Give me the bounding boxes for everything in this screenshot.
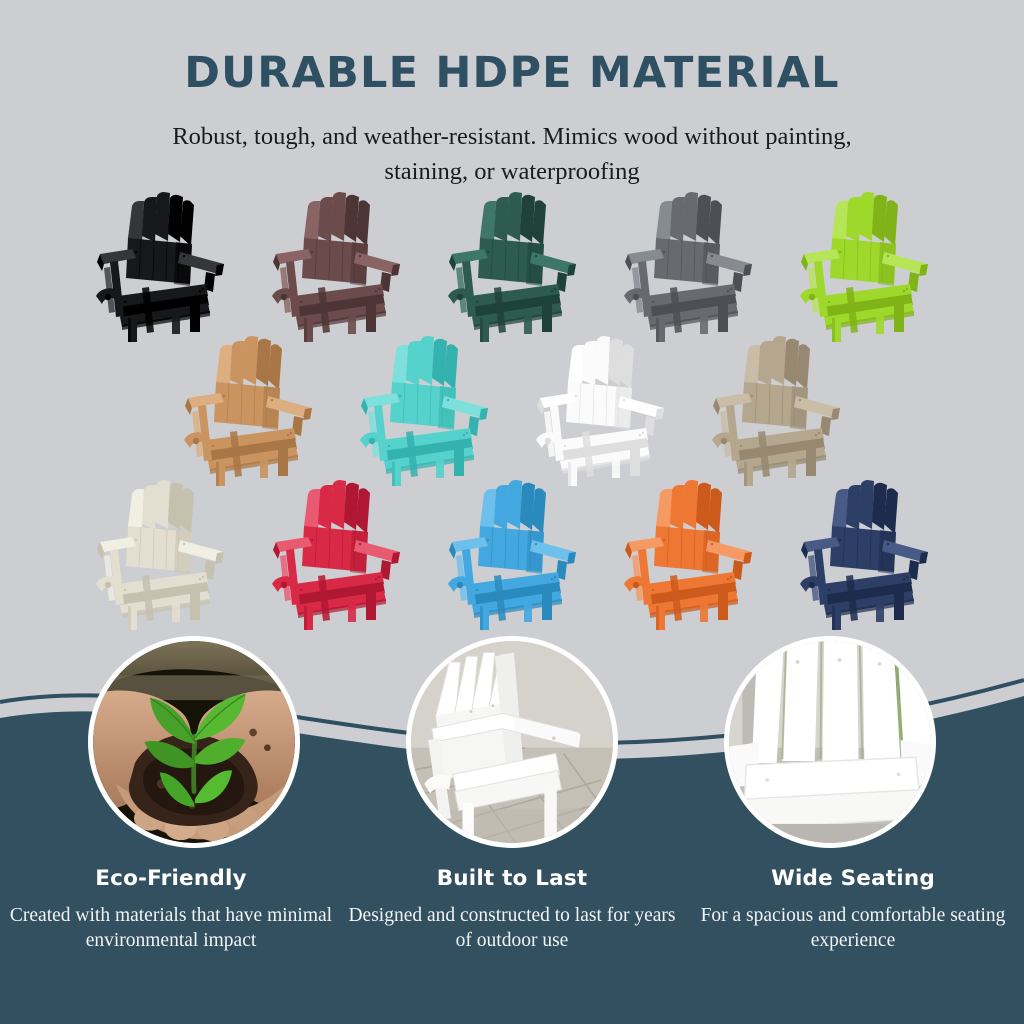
chair-swatch-lime-green[interactable]: [788, 192, 940, 344]
feature-description: For a spacious and comfortable seating e…: [689, 903, 1018, 955]
feature-text-row: Eco-FriendlyCreated with materials that …: [0, 868, 1024, 954]
feature-block-2: Built to LastDesigned and constructed to…: [342, 868, 683, 954]
feature-title: Built to Last: [348, 868, 677, 890]
page-title: DURABLE HDPE MATERIAL: [0, 52, 1024, 95]
feature-title: Wide Seating: [689, 868, 1018, 890]
chair-row-1: [0, 192, 1024, 344]
chair-row-2: [0, 336, 1024, 488]
page-subtitle: Robust, tough, and weather-resistant. Mi…: [152, 120, 872, 190]
chair-swatch-sky-blue[interactable]: [436, 480, 588, 632]
feature-description: Designed and constructed to last for yea…: [348, 903, 677, 955]
chair-color-grid: [0, 192, 1024, 632]
chair-swatch-white[interactable]: [524, 336, 676, 488]
feature-block-3: Wide SeatingFor a spacious and comfortab…: [683, 868, 1024, 954]
circle-wide-seat-photo: [724, 636, 936, 848]
feature-image-row: [0, 636, 1024, 848]
feature-block-1: Eco-FriendlyCreated with materials that …: [1, 868, 342, 954]
chair-swatch-dark-green[interactable]: [436, 192, 588, 344]
infographic-page: DURABLE HDPE MATERIAL Robust, tough, and…: [0, 0, 1024, 1024]
chair-swatch-khaki[interactable]: [700, 336, 852, 488]
chair-swatch-turquoise[interactable]: [348, 336, 500, 488]
chair-swatch-teak-tan[interactable]: [172, 336, 324, 488]
chair-swatch-crimson-red[interactable]: [260, 480, 412, 632]
chair-swatch-gray[interactable]: [612, 192, 764, 344]
chair-swatch-ivory-sand[interactable]: [84, 480, 236, 632]
circle-eco-photo: [88, 636, 300, 848]
feature-description: Created with materials that have minimal…: [7, 903, 336, 955]
chair-swatch-black[interactable]: [84, 192, 236, 344]
chair-swatch-mahogany[interactable]: [260, 192, 412, 344]
chair-swatch-navy-blue[interactable]: [788, 480, 940, 632]
header: DURABLE HDPE MATERIAL Robust, tough, and…: [0, 0, 1024, 190]
chair-row-3: [0, 480, 1024, 632]
chair-swatch-orange[interactable]: [612, 480, 764, 632]
circle-durability-photo: [406, 636, 618, 848]
feature-title: Eco-Friendly: [7, 868, 336, 890]
